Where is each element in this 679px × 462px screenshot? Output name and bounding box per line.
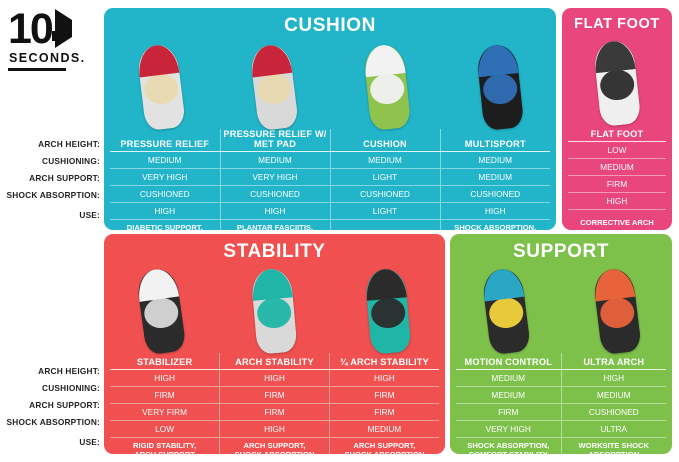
panel-support: SUPPORT MOTION CONTROLULTRA ARCHMEDIUMHI… [450,234,672,454]
cell-arch-height: HIGH [220,369,330,386]
logo-seconds-text: SECONDS. [9,51,86,65]
cell-shock-absorption: ULTRA [561,420,666,437]
cell-cushioning: MEDIUM [568,158,666,175]
table-header-row: STABILIZERARCH STABILITY¾ ARCH STABILITY [110,353,439,369]
table-row: MEDIUMMEDIUM [456,386,666,403]
insole-image [368,269,408,353]
row-label-cushioning: CUSHIONING: [0,153,100,170]
table-row: VERY HIGHULTRA [456,420,666,437]
table-row: VERY FIRMFIRMFIRM [110,403,439,420]
table-header-row: PRESSURE RELIEFPRESSURE RELIEF W/ MET PA… [110,129,550,152]
cell-arch-support: CUSHIONED [330,186,440,203]
column-header: STABILIZER [110,353,220,369]
table-row: HIGHHIGHLIGHTHIGH [110,203,550,220]
cell-cushioning: VERY HIGH [220,169,330,186]
insole-art-row-cushion [104,41,556,129]
table-cushion: PRESSURE RELIEFPRESSURE RELIEF W/ MET PA… [110,129,550,244]
table-row: FIRM [568,175,666,192]
row-label-arch-height-2: ARCH HEIGHT: [0,363,100,380]
cell-use: SHOCK ABSORPTION,COMFORT STABILITY [456,437,561,461]
row-label-cushioning-2: CUSHIONING: [0,380,100,397]
cell-cushioning: MEDIUM [561,386,666,403]
cell-arch-height: MEDIUM [440,152,550,169]
cell-cushioning: LIGHT [330,169,440,186]
panel-flat-foot: FLAT FOOT FLAT FOOTLOWMEDIUMFIRMHIGHCORR… [562,8,672,230]
table-stability: STABILIZERARCH STABILITY¾ ARCH STABILITY… [110,353,439,461]
table-row: MEDIUMHIGH [456,369,666,386]
cell-arch-support: FIRM [329,403,439,420]
column-header: FLAT FOOT [568,125,666,141]
cell-arch-height: HIGH [110,369,220,386]
row-label-use-2: USE: [0,431,100,455]
brand-logo: 10 SECONDS. [8,10,96,88]
table-support: MOTION CONTROLULTRA ARCHMEDIUMHIGHMEDIUM… [456,353,666,461]
insole-image [597,269,637,353]
row-labels-top: ARCH HEIGHT: CUSHIONING: ARCH SUPPORT: S… [0,136,100,228]
insole-image [480,45,520,129]
column-header: MULTISPORT [440,129,550,152]
column-header: ¾ ARCH STABILITY [329,353,439,369]
table-row: MEDIUM [568,158,666,175]
cell-cushioning: FIRM [329,386,439,403]
row-label-arch-support: ARCH SUPPORT: [0,170,100,187]
cell-cushioning: MEDIUM [456,386,561,403]
cell-arch-height: MEDIUM [456,369,561,386]
cell-arch-height: MEDIUM [110,152,220,169]
panel-stability: STABILITY STABILIZERARCH STABILITY¾ ARCH… [104,234,445,454]
table-row: LOW [568,141,666,158]
cell-arch-support: CUSHIONED [110,186,220,203]
logo-top-row: 10 [8,10,72,49]
cell-use: ARCH SUPPORT,SHOCK ABSORPTION [329,437,439,461]
cell-arch-support: FIRM [568,175,666,192]
panel-title-flat-foot: FLAT FOOT [562,8,672,32]
insole-image [254,45,294,129]
cell-arch-support: FIRM [220,403,330,420]
table-row: LOWHIGHMEDIUM [110,420,439,437]
cell-use: ARCH SUPPORT,SHOCK ABSORPTION [220,437,330,461]
table-row: FIRMCUSHIONED [456,403,666,420]
cell-cushioning: VERY HIGH [110,169,220,186]
cell-cushioning: MEDIUM [440,169,550,186]
cell-cushioning: FIRM [220,386,330,403]
insole-image [141,45,181,129]
cell-cushioning: FIRM [110,386,220,403]
row-label-use: USE: [0,204,100,228]
insole-image [367,45,407,129]
cell-arch-support: FIRM [456,403,561,420]
table-row: HIGHHIGHHIGH [110,369,439,386]
insole-art-row-flat-foot [562,36,672,125]
panel-title-support: SUPPORT [450,234,672,263]
insole-image [254,269,294,353]
cell-shock-absorption: MEDIUM [329,420,439,437]
cell-shock-absorption: HIGH [440,203,550,220]
insole-comparison-chart: 10 SECONDS. ARCH HEIGHT: CUSHIONING: ARC… [0,0,679,462]
insole-image [597,41,637,125]
table-row: MEDIUMMEDIUMMEDIUMMEDIUM [110,152,550,169]
row-label-arch-height: ARCH HEIGHT: [0,136,100,153]
cell-arch-support: CUSHIONED [440,186,550,203]
cell-shock-absorption: LIGHT [330,203,440,220]
table-row: RIGID STABILITY,ARCH SUPPORTARCH SUPPORT… [110,437,439,461]
cell-shock-absorption: HIGH [568,192,666,209]
column-header: ARCH STABILITY [220,353,330,369]
column-header: MOTION CONTROL [456,353,561,369]
cell-arch-height: HIGH [329,369,439,386]
logo-ten-text: 10 [8,10,52,49]
cell-arch-support: CUSHIONED [220,186,330,203]
cell-arch-height: HIGH [561,369,666,386]
cell-use: RIGID STABILITY,ARCH SUPPORT [110,437,220,461]
table-row: CORRECTIVE ARCH [568,209,666,233]
column-header: PRESSURE RELIEF W/ MET PAD [220,129,330,152]
cell-arch-height: MEDIUM [220,152,330,169]
table-row: HIGH [568,192,666,209]
logo-divider [8,68,66,71]
right-arrow-icon [52,20,72,38]
table-row: CUSHIONEDCUSHIONEDCUSHIONEDCUSHIONED [110,186,550,203]
row-label-arch-support-2: ARCH SUPPORT: [0,397,100,414]
column-header: CUSHION [330,129,440,152]
cell-arch-support: VERY FIRM [110,403,220,420]
table-flat-foot: FLAT FOOTLOWMEDIUMFIRMHIGHCORRECTIVE ARC… [568,125,666,233]
column-header: ULTRA ARCH [561,353,666,369]
table-header-row: FLAT FOOT [568,125,666,141]
cell-arch-support: CUSHIONED [561,403,666,420]
table-row: VERY HIGHVERY HIGHLIGHTMEDIUM [110,169,550,186]
panel-title-stability: STABILITY [104,234,445,263]
cell-arch-height: MEDIUM [330,152,440,169]
row-labels-bottom: ARCH HEIGHT: CUSHIONING: ARCH SUPPORT: S… [0,363,100,455]
insole-image [141,269,181,353]
cell-use: CORRECTIVE ARCH [568,209,666,233]
table-row: FIRMFIRMFIRM [110,386,439,403]
row-label-shock-absorption: SHOCK ABSORPTION: [0,187,100,204]
insole-art-row-support [450,267,672,353]
panel-title-cushion: CUSHION [104,8,556,37]
cell-shock-absorption: LOW [110,420,220,437]
cell-shock-absorption: HIGH [110,203,220,220]
cell-arch-height: LOW [568,141,666,158]
insole-image [486,269,526,353]
cell-shock-absorption: HIGH [220,420,330,437]
insole-art-row-stability [104,267,445,353]
column-header: PRESSURE RELIEF [110,129,220,152]
cell-use: WORKSITE SHOCKABSORPTION [561,437,666,461]
cell-shock-absorption: HIGH [220,203,330,220]
panel-cushion: CUSHION PRESSURE RELIEFPRESSURE RELIEF W… [104,8,556,230]
cell-shock-absorption: VERY HIGH [456,420,561,437]
row-label-shock-absorption-2: SHOCK ABSORPTION: [0,414,100,431]
table-header-row: MOTION CONTROLULTRA ARCH [456,353,666,369]
table-row: SHOCK ABSORPTION,COMFORT STABILITYWORKSI… [456,437,666,461]
